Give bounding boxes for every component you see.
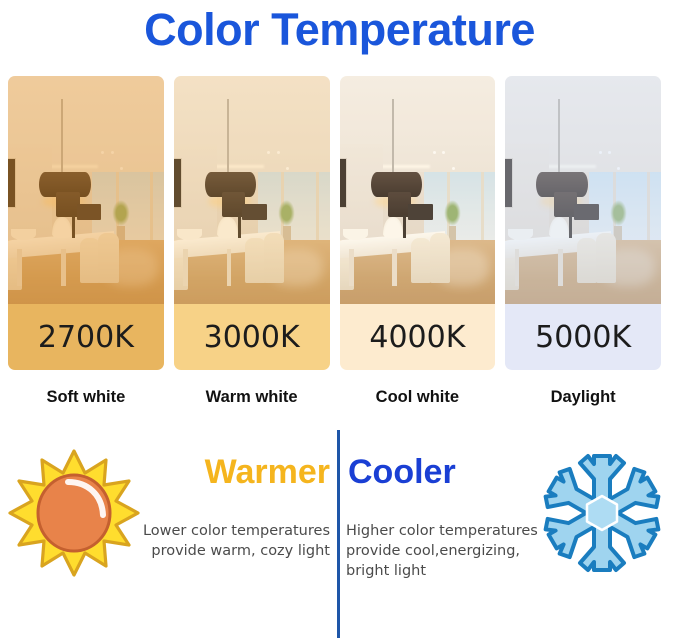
cooler-heading: Cooler (348, 452, 528, 492)
interior-photo-2700k (8, 76, 164, 304)
infographic-root: Color Temperature (0, 0, 679, 638)
temperature-panel-5000k[interactable]: 5000K (505, 76, 661, 370)
sun-icon (8, 446, 140, 581)
caption-row: Soft white Warm white Cool white Dayligh… (8, 388, 671, 414)
interior-photo-5000k (505, 76, 661, 304)
temperature-panel-4000k[interactable]: 4000K (340, 76, 496, 370)
temperature-panel-2700k[interactable]: 2700K (8, 76, 164, 370)
page-title: Color Temperature (0, 2, 679, 58)
cooler-description: Higher color temperatures provide cool,e… (346, 521, 556, 581)
caption-warm-white: Warm white (174, 388, 330, 414)
kelvin-band-3000k: 3000K (174, 304, 330, 370)
interior-photo-3000k (174, 76, 330, 304)
warmer-heading: Warmer (160, 452, 330, 492)
kelvin-band-2700k: 2700K (8, 304, 164, 370)
kelvin-label: 3000K (204, 320, 300, 355)
interior-photo-4000k (340, 76, 496, 304)
warmer-description: Lower color temperatures provide warm, c… (130, 521, 330, 561)
kelvin-label: 5000K (535, 320, 631, 355)
temperature-panel-3000k[interactable]: 3000K (174, 76, 330, 370)
kelvin-label: 2700K (38, 320, 134, 355)
kelvin-band-4000k: 4000K (340, 304, 496, 370)
temperature-panel-strip: 2700K (8, 76, 671, 370)
caption-soft-white: Soft white (8, 388, 164, 414)
caption-daylight: Daylight (505, 388, 661, 414)
kelvin-band-5000k: 5000K (505, 304, 661, 370)
caption-cool-white: Cool white (340, 388, 496, 414)
kelvin-label: 4000K (369, 320, 465, 355)
comparison-divider (337, 430, 340, 638)
